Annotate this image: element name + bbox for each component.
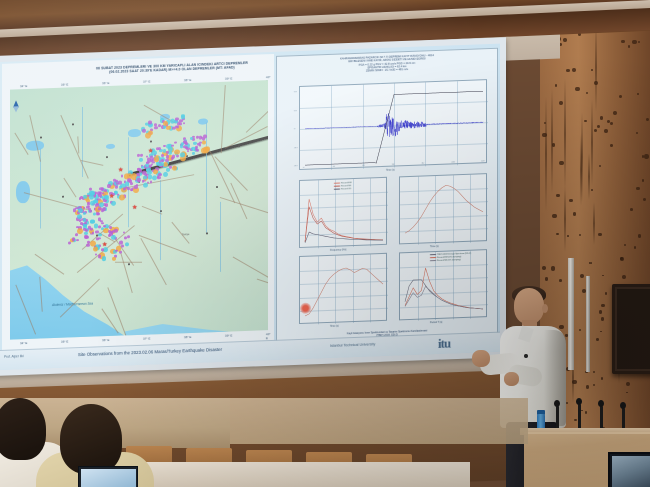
compass-north-icon — [11, 99, 22, 113]
epicenter-marker — [90, 228, 93, 231]
wood-knot — [613, 111, 617, 115]
wood-knot — [610, 122, 613, 125]
ytick: 0.1 — [294, 110, 297, 112]
xtick: 20 — [333, 166, 335, 168]
wood-knot — [600, 116, 604, 120]
river-3 — [160, 180, 161, 260]
attendee-2-head — [60, 404, 122, 474]
city-dot-12 — [150, 140, 152, 142]
presenter-shirt-shadow — [544, 330, 566, 426]
ytick: -0.2 — [294, 165, 298, 167]
wood-grain-streak — [595, 23, 597, 112]
epicenter-marker — [156, 147, 159, 150]
legend-spectra: TBDY-2018 Design Spectrum (DD-2)Record E… — [430, 253, 471, 263]
mainshock-star-1: ★ — [132, 205, 137, 211]
city-dot-6 — [216, 186, 218, 188]
epicenter-marker — [145, 132, 151, 139]
presenter-right-hand — [504, 372, 519, 386]
road-10 — [64, 178, 77, 197]
epicenter-marker — [92, 232, 94, 234]
wood-grain-streak — [593, 202, 595, 246]
wood-knot — [637, 93, 639, 95]
epicenter-marker — [181, 115, 185, 119]
wood-knot — [619, 95, 623, 99]
epicenter-marker — [83, 218, 86, 221]
lake-2 — [128, 129, 141, 137]
wood-knot — [556, 233, 558, 235]
wood-knot — [572, 68, 576, 72]
wood-knot — [632, 40, 636, 44]
epicenter-marker — [96, 237, 99, 240]
wood-knot — [593, 384, 595, 386]
epicenter-marker — [89, 195, 94, 200]
epicenter-marker — [109, 226, 112, 229]
wood-knot — [591, 189, 593, 191]
road-27 — [30, 115, 41, 162]
epicenter-marker — [172, 165, 177, 170]
epicenter-marker — [199, 144, 201, 147]
wood-knot — [566, 69, 569, 72]
epicenter-marker — [115, 180, 117, 182]
xlabel: Frequency (Hz) — [330, 248, 346, 252]
epicenter-marker — [205, 146, 210, 151]
ytick: 0.2 — [294, 91, 297, 93]
road-8 — [61, 115, 89, 179]
wood-knot — [542, 266, 546, 270]
city-dot-4 — [160, 210, 162, 212]
xtick: 40 — [362, 165, 364, 167]
epicenter-marker — [101, 188, 104, 192]
epicenter-marker — [77, 227, 83, 233]
road-28 — [233, 256, 268, 290]
epicenter-marker — [127, 178, 131, 182]
wood-knot — [597, 125, 600, 128]
epicenter-marker — [137, 154, 141, 158]
epicenter-marker — [83, 195, 87, 199]
epicenter-marker — [180, 152, 184, 157]
footer-presentation-title: Site Observations from the 2023.02.06 Ma… — [78, 347, 222, 357]
epicenter-marker — [163, 121, 168, 126]
wood-knot — [626, 382, 630, 386]
wood-knot — [622, 275, 626, 279]
epicenter-marker — [76, 239, 78, 241]
xtick: 120 — [481, 160, 484, 162]
epicenter-marker — [193, 142, 197, 146]
chart-velocity-time: Time (s) — [399, 173, 487, 244]
city-dot-9 — [62, 196, 64, 198]
map-lon-tick: 38° E — [184, 78, 191, 82]
epicenter-marker — [148, 121, 152, 125]
accelerogram-plot — [300, 80, 488, 171]
epicenter-marker — [97, 212, 100, 215]
epicenter-marker — [134, 185, 137, 188]
wood-knot — [630, 208, 633, 211]
wood-knot — [642, 179, 645, 182]
attendee-1-head — [0, 398, 46, 460]
wood-knot — [620, 257, 623, 260]
epicenter-marker — [202, 138, 204, 141]
wood-knot — [569, 199, 572, 202]
epicenter-marker — [115, 249, 118, 252]
xlabel: Period T (s) — [430, 321, 442, 324]
monitor-screen — [617, 289, 650, 369]
microphone-head-1 — [554, 400, 560, 407]
wood-knot — [593, 371, 595, 373]
epicenter-marker — [147, 170, 151, 174]
wood-knot — [638, 41, 640, 43]
epicenter-marker — [115, 186, 118, 189]
xtick: 60 — [392, 164, 394, 166]
epicenter-marker — [125, 182, 129, 186]
wood-knot — [602, 275, 604, 277]
road-2 — [221, 85, 226, 153]
epicenter-marker — [94, 224, 98, 228]
wood-knot — [559, 161, 563, 165]
epicenter-marker — [172, 155, 175, 158]
attendee-laptop-screen — [81, 469, 136, 487]
slide-map-panel: 06 SUBAT 2023 DEPREMLERI VE 300 KM YARIC… — [2, 54, 274, 364]
legend-fourier: Record EWRecord NSRecord UD — [334, 182, 352, 191]
epicenter-marker — [174, 141, 176, 144]
wood-knot — [559, 279, 562, 282]
earthquake-epicenter-map: Akdeniz / Mediterranean Sea Suriye AFAD … — [10, 80, 268, 339]
wood-knot — [591, 69, 593, 71]
wood-knot — [601, 377, 603, 379]
wood-knot — [626, 392, 628, 394]
podium-laptop-screen — [612, 456, 650, 487]
presentation-photo-scene: 06 SUBAT 2023 DEPREMLERI VE 300 KM YARIC… — [0, 0, 650, 487]
map-lon-tick-bottom: 36° E — [102, 338, 109, 342]
map-lon-tick-bottom: 38° E — [184, 335, 191, 339]
river-5 — [220, 202, 221, 272]
epicenter-marker — [84, 235, 88, 239]
epicenter-marker — [80, 196, 82, 199]
epicenter-marker — [152, 176, 157, 181]
wood-knot — [599, 165, 601, 167]
projection-screen: 06 SUBAT 2023 DEPREMLERI VE 300 KM YARIC… — [0, 44, 500, 370]
chart-plot — [400, 174, 488, 245]
wood-knot — [594, 129, 597, 132]
map-lon-tick: 36° E — [102, 81, 109, 85]
chart-displacement-time: Time (s) — [299, 253, 387, 324]
epicenter-marker — [150, 181, 152, 183]
epicenter-marker — [143, 183, 148, 188]
chart-accelerogram: 020406080100120-0.2-0.100.10.2Time (s) — [299, 79, 487, 170]
xlabel: Time (s) — [386, 169, 395, 172]
wood-knot — [610, 144, 613, 147]
presenter-ear — [542, 304, 548, 313]
wood-knot — [563, 38, 567, 42]
wood-knot — [556, 194, 560, 198]
epicenter-marker — [123, 188, 126, 191]
epicenter-marker — [102, 207, 106, 211]
wood-knot — [636, 132, 638, 134]
wood-knot — [634, 246, 637, 249]
wood-grain-streak — [591, 99, 593, 186]
podium-laptop — [608, 452, 650, 487]
wood-knot — [551, 266, 555, 270]
itu-logo: itu — [438, 335, 450, 351]
charts-title: KAHRAMANMARAS PAZARCIK (M 7.7) DEPREMI K… — [285, 52, 489, 76]
road-1 — [209, 148, 235, 202]
mainshock-star-0: ★ — [118, 167, 123, 173]
wood-grain-streak — [551, 88, 553, 195]
city-dot-0 — [40, 136, 42, 138]
chart-response-spectra: TBDY-2018 Design Spectrum (DD-2)Record E… — [399, 249, 487, 320]
wall-monitor — [612, 284, 650, 374]
epicenter-marker — [73, 208, 76, 212]
map-lon-tick: 34° E — [20, 84, 27, 88]
wood-grain-streak — [564, 186, 566, 251]
wood-knot — [646, 118, 649, 121]
wood-knot — [580, 274, 584, 278]
road-31 — [35, 254, 64, 274]
xlabel: Time (s) — [430, 245, 439, 248]
epicenter-marker — [86, 244, 89, 247]
epicenter-marker — [195, 148, 197, 151]
chart-plot — [300, 254, 388, 325]
map-lon-tick-bottom: 40° E — [266, 332, 271, 340]
microphone-head-3 — [598, 400, 604, 407]
wood-knot — [598, 233, 601, 236]
road-15 — [77, 136, 79, 153]
epicenter-marker — [187, 150, 189, 153]
wood-knot — [599, 310, 603, 314]
road-9 — [142, 206, 162, 214]
epicenter-marker — [174, 149, 180, 155]
wood-knot — [644, 154, 648, 158]
epicenter-marker — [98, 233, 101, 237]
map-lon-tick-bottom: 35° E — [61, 339, 68, 343]
epicenter-marker — [118, 181, 121, 185]
wood-knot — [601, 317, 604, 320]
epicenter-marker — [119, 195, 125, 201]
wood-knot — [624, 244, 626, 246]
road-29 — [81, 160, 103, 165]
wood-knot — [590, 262, 592, 264]
wood-knot — [579, 234, 581, 236]
epicenter-marker — [127, 235, 130, 238]
wood-knot — [575, 87, 579, 91]
wood-knot — [567, 235, 569, 237]
wood-knot — [605, 292, 608, 295]
map-lon-tick: 39° E — [225, 76, 232, 80]
epicenter-marker — [72, 238, 75, 241]
epicenter-marker — [185, 142, 188, 145]
wood-knot — [628, 45, 631, 48]
ytick: 0 — [294, 128, 295, 130]
epicenter-marker — [83, 212, 86, 215]
epicenter-marker — [154, 126, 158, 130]
epicenter-marker — [76, 226, 78, 228]
epicenter-marker — [89, 209, 92, 212]
epicenter-marker — [114, 229, 118, 233]
presenter-left-hand — [472, 350, 490, 367]
city-dot-8 — [128, 263, 130, 265]
footer-institution: Istanbul Technical University — [330, 342, 375, 348]
epicenter-marker — [102, 256, 107, 261]
epicenter-marker — [103, 225, 106, 228]
epicenter-marker — [183, 122, 185, 124]
city-dot-11 — [238, 145, 240, 147]
epicenter-marker — [108, 234, 111, 237]
epicenter-marker — [140, 153, 143, 156]
road-22 — [256, 278, 268, 301]
mainshock-star-4: ★ — [109, 194, 114, 200]
wood-knot — [552, 214, 556, 218]
wood-knot — [636, 187, 639, 190]
map-lon-tick: 35° E — [61, 82, 68, 86]
wood-knot — [604, 129, 608, 133]
wood-knot — [643, 198, 646, 201]
river-4 — [206, 122, 207, 232]
wood-knot — [573, 212, 576, 215]
wood-knot — [555, 84, 558, 87]
epicenter-marker — [175, 117, 178, 120]
chart-fourier-amplitude: Record EWRecord NSRecord UDFrequency (Hz… — [299, 177, 387, 248]
epicenter-marker — [121, 244, 124, 247]
epicenter-marker — [119, 240, 123, 244]
presenter-head — [514, 288, 544, 324]
wood-grain-streak — [545, 96, 547, 212]
map-lon-tick-bottom: 37° E — [143, 336, 150, 340]
epicenter-marker — [185, 146, 188, 149]
ytick: -0.1 — [294, 147, 298, 149]
wood-knot — [584, 120, 587, 123]
epicenter-marker — [112, 257, 116, 261]
lake-4 — [106, 144, 115, 149]
city-dot-2 — [106, 156, 108, 158]
wood-knot — [586, 92, 588, 94]
attendee-laptop — [78, 466, 138, 487]
wood-knot — [638, 234, 641, 237]
epicenter-marker — [161, 154, 164, 157]
city-dot-10 — [206, 232, 208, 234]
wood-knot — [596, 338, 599, 341]
epicenter-marker — [104, 195, 108, 199]
epicenter-marker — [90, 219, 94, 224]
presenter-lapel-microphone — [524, 354, 528, 358]
epicenter-marker — [139, 158, 143, 162]
mainshock-star-3: ★ — [148, 148, 153, 154]
road-11 — [139, 234, 197, 256]
wood-knot — [559, 101, 563, 105]
epicenter-marker — [75, 234, 77, 236]
map-lon-tick-bottom: 39° E — [225, 333, 232, 337]
epicenter-marker — [168, 146, 173, 151]
wood-knot — [601, 304, 604, 307]
wood-knot — [545, 277, 549, 281]
xtick: 0 — [303, 167, 304, 169]
epicenter-marker — [157, 176, 160, 180]
city-dot-1 — [72, 123, 74, 125]
mainshock-star-2: ★ — [102, 242, 107, 248]
wood-grain-streak — [588, 153, 590, 200]
microphone-head-4 — [620, 402, 626, 409]
microphone-head-2 — [576, 398, 582, 405]
epicenter-marker — [125, 242, 129, 246]
epicenter-marker — [98, 218, 102, 222]
map-lon-tick-bottom: 34° E — [20, 341, 27, 345]
epicenter-marker — [102, 192, 104, 194]
road-14 — [121, 253, 133, 293]
footer-presenter-name: Prof. Alper Ilki — [4, 354, 24, 359]
epicenter-marker — [158, 173, 161, 176]
epicenter-marker — [87, 201, 90, 204]
road-33 — [141, 238, 167, 285]
epicenter-marker — [163, 172, 168, 178]
map-lon-tick: 37° E — [143, 79, 150, 83]
xlabel: Time (s) — [330, 325, 339, 328]
wood-grain-streak — [564, 78, 566, 190]
xtick: 100 — [451, 161, 454, 163]
xtick: 80 — [422, 162, 424, 164]
epicenter-marker — [93, 247, 98, 252]
epicenter-marker — [93, 213, 96, 216]
epicenter-marker — [111, 200, 116, 205]
epicenter-marker — [121, 175, 123, 177]
wood-knot — [621, 40, 625, 44]
epicenter-marker — [137, 178, 141, 182]
wood-knot — [600, 331, 602, 333]
wood-grain-streak — [581, 112, 583, 202]
epicenter-marker — [98, 225, 101, 228]
